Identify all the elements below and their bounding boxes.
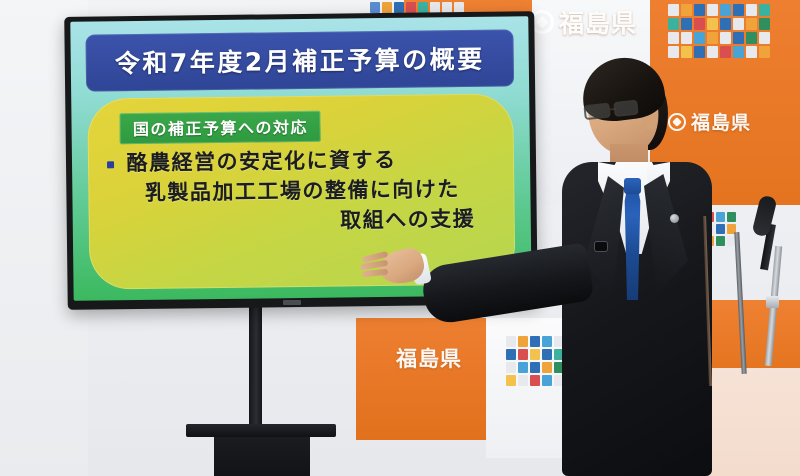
mosaic-cell (530, 375, 540, 386)
mosaic-cell (668, 46, 679, 58)
necktie-knot (624, 178, 641, 194)
mosaic-cell (694, 4, 705, 16)
slide-section-heading: 国の補正予算への対応 (133, 118, 308, 139)
mosaic-cell (707, 4, 718, 16)
mosaic-cell (394, 2, 404, 13)
mosaic-cell (530, 349, 540, 360)
mosaic-cell (530, 336, 540, 347)
tv-brand-mark (283, 300, 301, 305)
slide-title-banner: 令和7年度2月補正予算の概要 (86, 29, 514, 91)
slide-title: 令和7年度2月補正予算の概要 (115, 40, 485, 81)
mosaic-cell (759, 18, 770, 30)
mosaic-cell (733, 32, 744, 44)
mosaic-cell (733, 46, 744, 58)
mosaic-logo-right (668, 4, 770, 58)
mic-stand-clamp (766, 296, 779, 308)
mosaic-cell (506, 362, 516, 373)
fukushima-logo-top: 福島県 (530, 4, 637, 40)
slide-screen: 令和7年度2月補正予算の概要 国の補正予算への対応 酪農経営の安定化に資する 乳… (70, 16, 531, 301)
fukushima-logo-text: 福島県 (559, 4, 637, 40)
mosaic-cell (418, 2, 428, 13)
mosaic-cell (668, 18, 679, 30)
lapel-microphone-icon (595, 242, 607, 251)
mosaic-cell (681, 18, 692, 30)
tv-stand-base (214, 437, 310, 476)
slide-body-line: 取組への支援 (123, 205, 497, 237)
slide-body-line: 酪農経営の安定化に資する (122, 146, 496, 178)
mosaic-cell (694, 46, 705, 58)
mosaic-cell (530, 362, 540, 373)
bullet-square-icon (107, 161, 114, 168)
mosaic-cell (694, 32, 705, 44)
mosaic-cell (681, 46, 692, 58)
mosaic-cell (759, 46, 770, 58)
fukushima-logo-text: 福島県 (396, 343, 462, 373)
mosaic-cell (707, 32, 718, 44)
mosaic-cell (506, 336, 516, 347)
tv-stand-crossbar (186, 424, 336, 437)
mosaic-cell (518, 349, 528, 360)
mosaic-cell (406, 2, 416, 13)
mosaic-cell (746, 4, 757, 16)
mosaic-cell (518, 362, 528, 373)
mosaic-cell (707, 46, 718, 58)
backdrop-orange-panel-lower-left (356, 318, 486, 440)
slide-body: 酪農経営の安定化に資する 乳製品加工工場の整備に向けた 取組への支援 (122, 146, 497, 238)
mosaic-cell (694, 18, 705, 30)
mosaic-cell (681, 32, 692, 44)
mosaic-cell (759, 4, 770, 16)
mosaic-cell (746, 32, 757, 44)
lapel-pin-badge (670, 214, 679, 223)
slide-section-heading-chip: 国の補正予算への対応 (120, 111, 321, 144)
slide-body-line: 乳製品加工工場の整備に向けた (123, 176, 497, 208)
mosaic-cell (518, 336, 528, 347)
glasses-lens-right (613, 100, 638, 117)
mosaic-cell (506, 349, 516, 360)
mosaic-cell (382, 2, 392, 13)
mosaic-cell (720, 32, 731, 44)
mosaic-cell (720, 46, 731, 58)
slide-content-card: 国の補正予算への対応 酪農経営の安定化に資する 乳製品加工工場の整備に向けた 取… (88, 93, 515, 289)
mosaic-cell (370, 2, 380, 13)
mosaic-cell (759, 32, 770, 44)
tv-stand-pole (249, 303, 262, 433)
scene: 福島県 福島県 福島県 令和7年度2月補正予算の概要 国の補正予算への対応 酪農… (0, 0, 800, 476)
mosaic-cell (746, 46, 757, 58)
glasses-lens-left (583, 103, 610, 121)
mosaic-cell (518, 375, 528, 386)
mosaic-cell (506, 375, 516, 386)
mosaic-cell (733, 4, 744, 16)
mosaic-cell (720, 18, 731, 30)
mosaic-cell (707, 18, 718, 30)
mosaic-cell (668, 32, 679, 44)
mosaic-cell (681, 4, 692, 16)
speaker (540, 58, 750, 476)
mosaic-cell (720, 4, 731, 16)
mosaic-cell (746, 18, 757, 30)
fukushima-logo-lower: 福島県 (396, 343, 462, 373)
mosaic-cell (668, 4, 679, 16)
mosaic-cell (733, 18, 744, 30)
